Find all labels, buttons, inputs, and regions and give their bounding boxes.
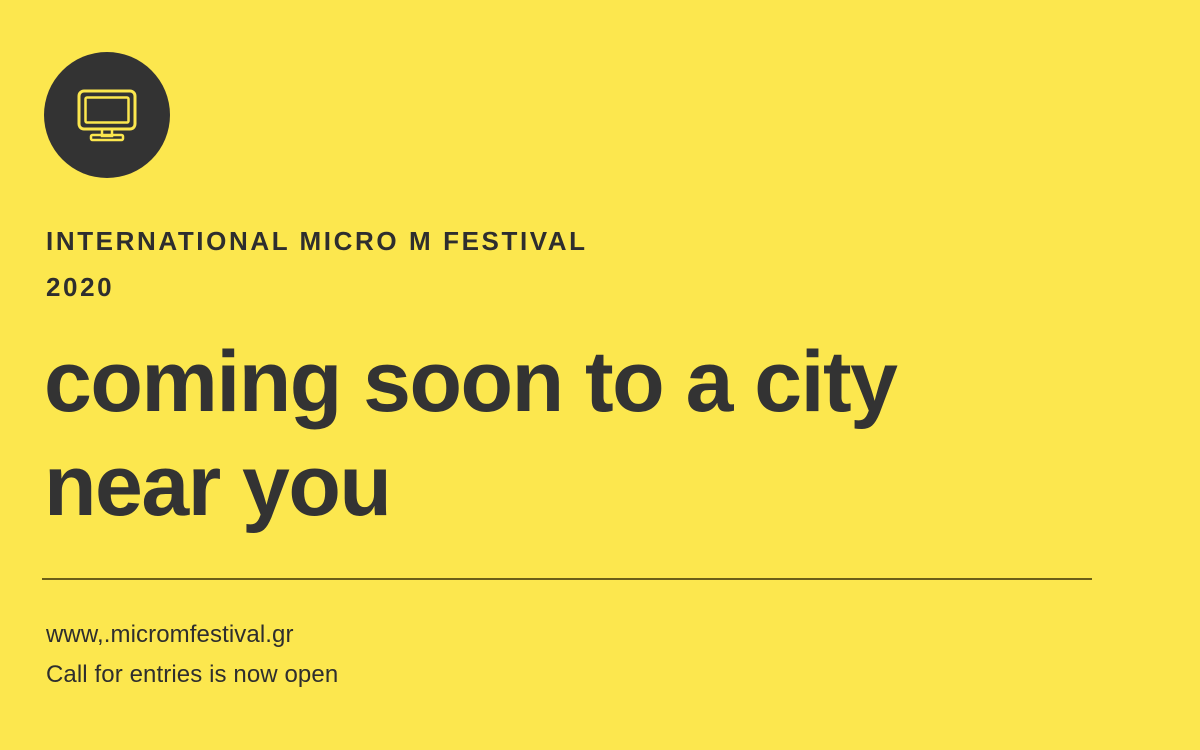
website-link[interactable]: www,.micromfestival.gr: [46, 615, 946, 655]
headline-line-2: near you: [44, 434, 1154, 538]
page-title: coming soon to a city near you: [44, 330, 1154, 538]
headline-line-1: coming soon to a city: [44, 330, 1154, 434]
poster-canvas: INTERNATIONAL MICRO M FESTIVAL 2020 comi…: [0, 0, 1200, 750]
eyebrow-line-1: INTERNATIONAL MICRO M FESTIVAL: [46, 218, 1146, 264]
festival-logo-badge: [44, 52, 170, 178]
monitor-icon: [76, 88, 138, 142]
festival-eyebrow: INTERNATIONAL MICRO M FESTIVAL 2020: [46, 218, 1146, 310]
footer-block: www,.micromfestival.gr Call for entries …: [46, 615, 946, 695]
eyebrow-line-2: 2020: [46, 264, 1146, 310]
horizontal-divider: [42, 578, 1092, 580]
call-for-entries-text: Call for entries is now open: [46, 655, 946, 695]
